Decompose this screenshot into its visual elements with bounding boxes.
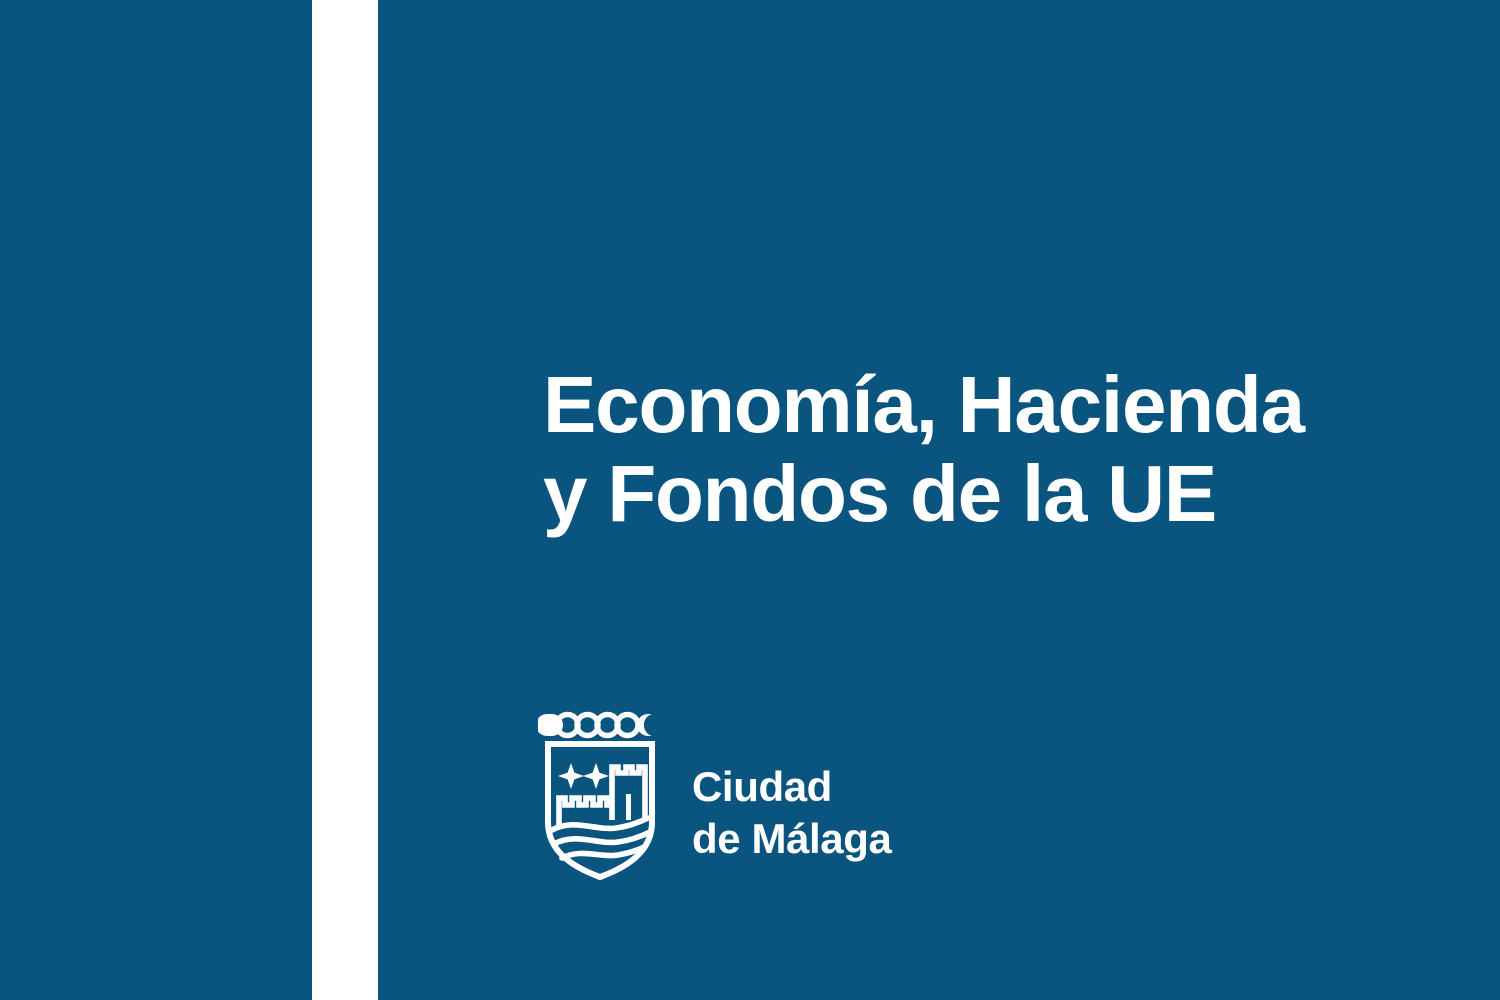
- brand-logo-text: Ciudad de Málaga: [692, 725, 891, 865]
- left-blue-band: [0, 0, 312, 1000]
- slide-canvas: Economía, Hacienda y Fondos de la UE: [0, 0, 1500, 1000]
- brand-logo-lockup[interactable]: Ciudad de Málaga: [538, 710, 891, 880]
- vertical-white-stripe: [312, 0, 378, 1000]
- page-title: Economía, Hacienda y Fondos de la UE: [543, 360, 1443, 538]
- malaga-shield-icon: [538, 710, 662, 880]
